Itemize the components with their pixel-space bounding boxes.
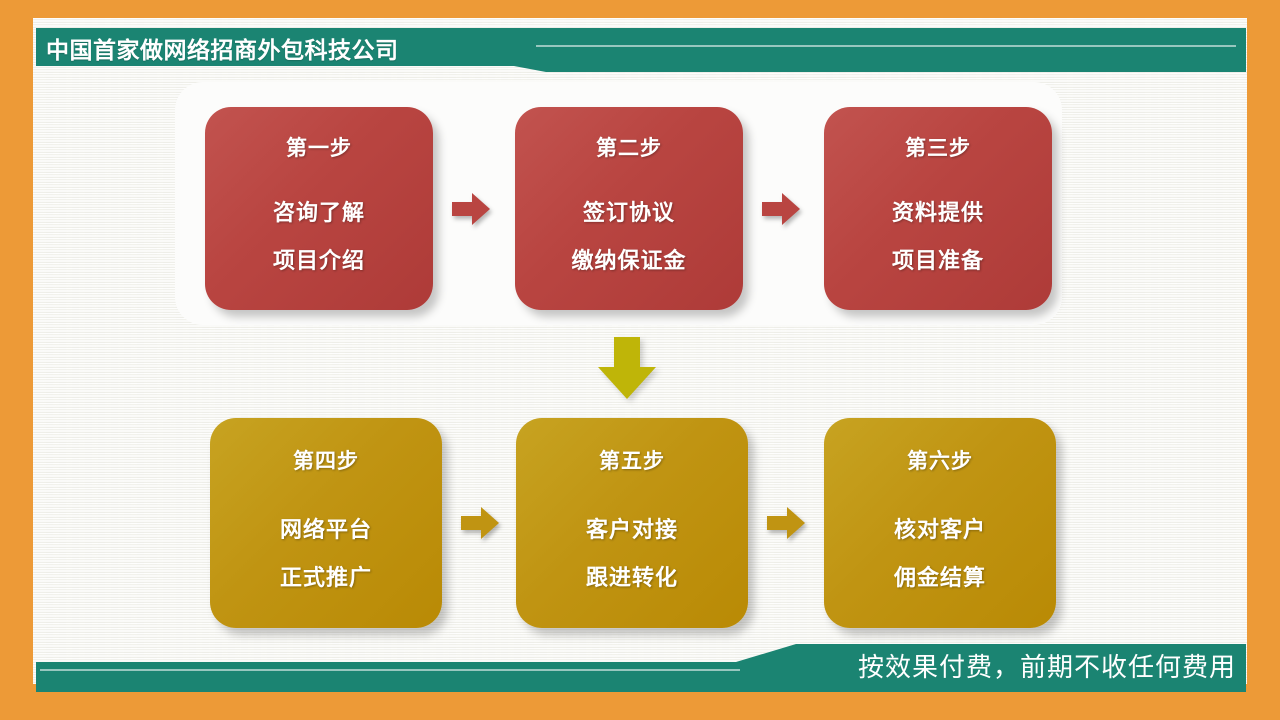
arrow-right-icon (452, 191, 490, 227)
step-card-6-line2: 佣金结算 (894, 560, 986, 592)
arrow-right-icon (767, 505, 805, 541)
step-card-1[interactable]: 第一步 咨询了解 项目介绍 (205, 107, 433, 310)
header-hairline-divider (536, 45, 1236, 47)
step-card-5[interactable]: 第五步 客户对接 跟进转化 (516, 418, 748, 628)
step-card-5-title: 第五步 (599, 445, 665, 475)
step-card-4-line1: 网络平台 (280, 512, 372, 544)
slide-canvas: 中国首家做网络招商外包科技公司 第一步 咨询了解 项目介绍 第二步 签订协议 缴… (0, 0, 1280, 720)
arrow-down-icon (594, 337, 660, 399)
step-card-3[interactable]: 第三步 资料提供 项目准备 (824, 107, 1052, 310)
step-card-6-line1: 核对客户 (894, 512, 986, 544)
step-card-2-title: 第二步 (596, 132, 662, 162)
step-card-4-line2: 正式推广 (280, 560, 372, 592)
page-title: 中国首家做网络招商外包科技公司 (46, 33, 399, 67)
footer-tagline: 按效果付费，前期不收任何费用 (858, 646, 1236, 688)
step-card-4-title: 第四步 (293, 445, 359, 475)
step-card-4[interactable]: 第四步 网络平台 正式推广 (210, 418, 442, 628)
step-card-6-title: 第六步 (907, 445, 973, 475)
step-card-1-line2: 项目介绍 (273, 243, 365, 275)
arrow-right-icon (461, 505, 499, 541)
step-card-3-title: 第三步 (905, 132, 971, 162)
step-card-5-line2: 跟进转化 (586, 560, 678, 592)
step-card-3-line2: 项目准备 (892, 243, 984, 275)
step-card-2-line2: 缴纳保证金 (571, 243, 686, 275)
step-card-5-line1: 客户对接 (586, 512, 678, 544)
step-card-1-line1: 咨询了解 (273, 195, 365, 227)
step-card-1-title: 第一步 (286, 132, 352, 162)
step-card-2[interactable]: 第二步 签订协议 缴纳保证金 (515, 107, 743, 310)
step-card-3-line1: 资料提供 (892, 195, 984, 227)
arrow-right-icon (762, 191, 800, 227)
footer-hairline-divider (40, 669, 740, 671)
step-card-6[interactable]: 第六步 核对客户 佣金结算 (824, 418, 1056, 628)
step-card-2-line1: 签订协议 (583, 195, 675, 227)
